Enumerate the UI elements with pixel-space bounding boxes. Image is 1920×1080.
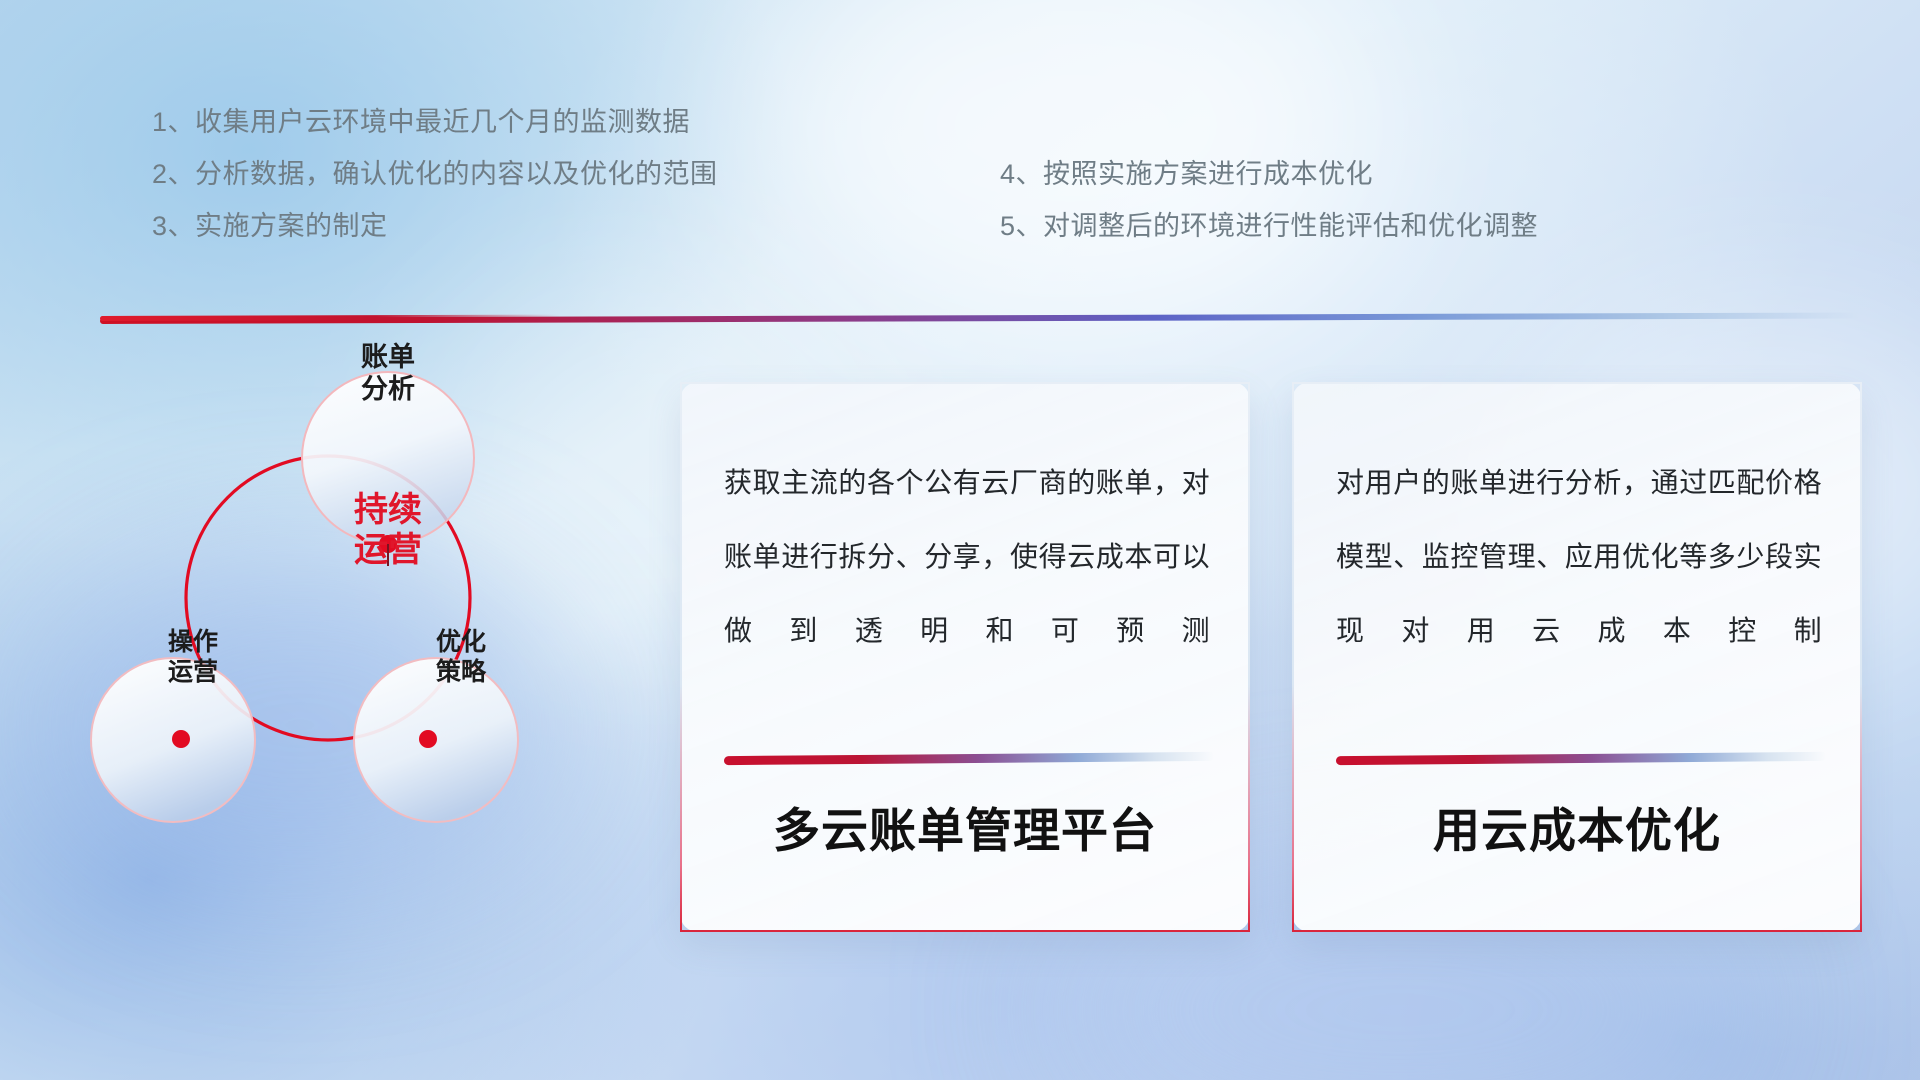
steps-left-column: 1、收集用户云环境中最近几个月的监测数据 2、分析数据，确认优化的内容以及优化的…: [152, 96, 718, 252]
card-multicloud-billing[interactable]: 获取主流的各个公有云厂商的账单，对账单进行拆分、分享，使得云成本可以做到透明和可…: [680, 382, 1250, 932]
step-item-4: 4、按照实施方案进行成本优化: [1000, 148, 1538, 200]
slide-canvas: 1、收集用户云环境中最近几个月的监测数据 2、分析数据，确认优化的内容以及优化的…: [0, 0, 1920, 1080]
step-item-2: 2、分析数据，确认优化的内容以及优化的范围: [152, 148, 718, 200]
card-body-text: 获取主流的各个公有云厂商的账单，对账单进行拆分、分享，使得云成本可以做到透明和可…: [724, 446, 1210, 668]
card-body-text: 对用户的账单进行分析，通过匹配价格模型、监控管理、应用优化等多少段实现对用云成本…: [1336, 446, 1822, 668]
card-accent-rule: [724, 752, 1214, 765]
venn-diagram: 账单 分析 持续 运营 操作 运营 优化 策略: [88, 340, 568, 860]
venn-node-bottom-right: [419, 730, 437, 748]
card-accent-rule: [1336, 752, 1826, 765]
card-cloud-cost-optimization[interactable]: 对用户的账单进行分析，通过匹配价格模型、监控管理、应用优化等多少段实现对用云成本…: [1292, 382, 1862, 932]
section-divider: [100, 312, 1860, 324]
venn-label-top: 账单 分析: [303, 342, 473, 406]
step-item-1: 1、收集用户云环境中最近几个月的监测数据: [152, 96, 718, 148]
venn-label-bottom-right: 优化 策略: [376, 628, 546, 687]
steps-right-column: 4、按照实施方案进行成本优化 5、对调整后的环境进行性能评估和优化调整: [1000, 148, 1538, 252]
step-item-5: 5、对调整后的环境进行性能评估和优化调整: [1000, 200, 1538, 252]
step-item-3: 3、实施方案的制定: [152, 200, 718, 252]
venn-label-bottom-left: 操作 运营: [108, 628, 278, 687]
card-title: 多云账单管理平台: [682, 792, 1248, 861]
venn-graphic: [88, 340, 568, 860]
venn-node-bottom-left: [172, 730, 190, 748]
venn-label-center: 持续 运营: [303, 490, 473, 570]
card-title: 用云成本优化: [1294, 792, 1860, 861]
